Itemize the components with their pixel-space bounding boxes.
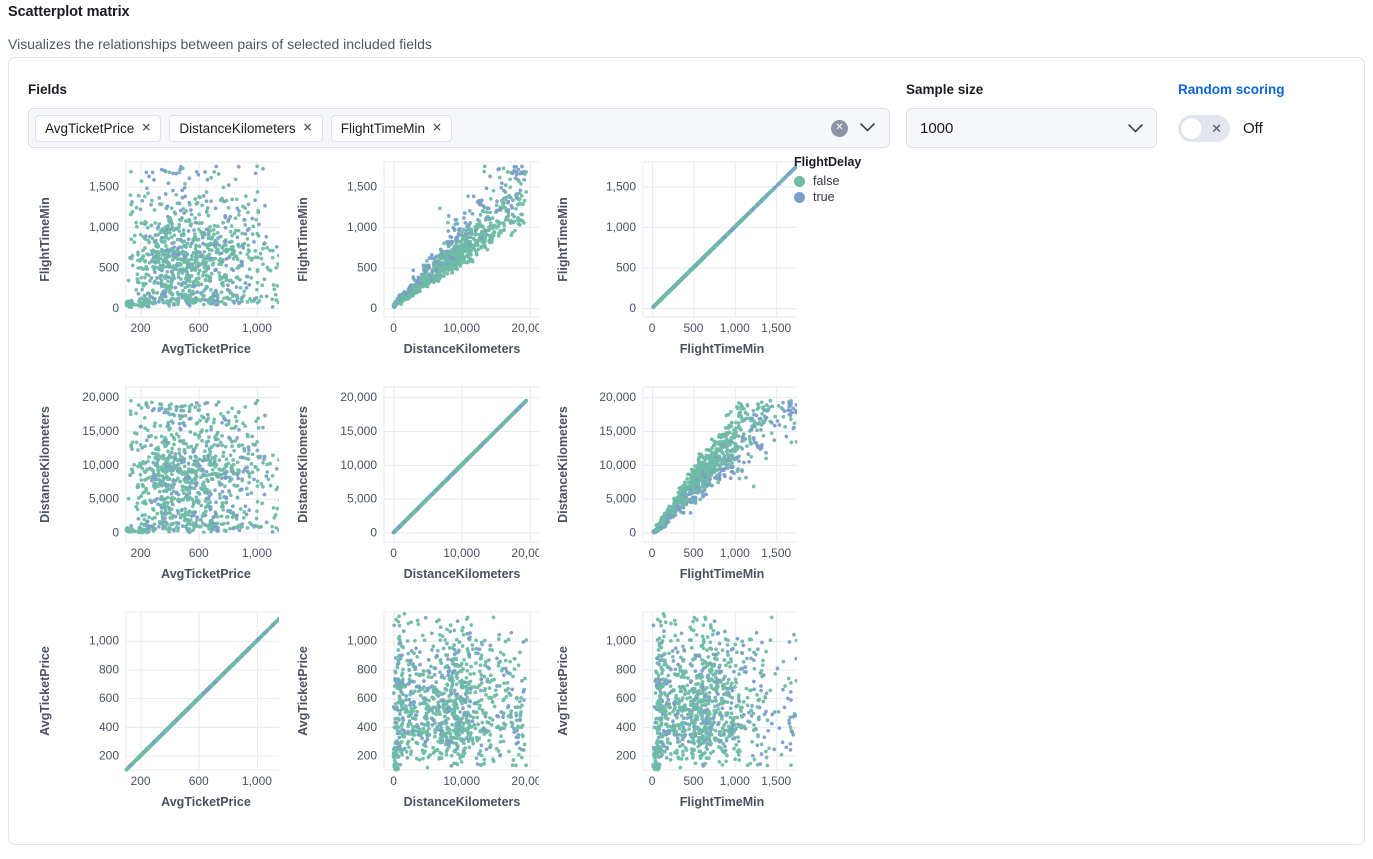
legend-item-true[interactable]: true: [794, 190, 861, 204]
svg-text:0: 0: [112, 526, 119, 540]
cross-icon: ✕: [1211, 122, 1222, 135]
legend-title: FlightDelay: [794, 155, 861, 169]
svg-text:200: 200: [131, 546, 151, 560]
svg-text:1,000: 1,000: [606, 220, 636, 234]
legend: FlightDelay false true: [794, 155, 861, 206]
close-icon[interactable]: ✕: [303, 122, 313, 134]
legend-item-label: true: [813, 190, 835, 204]
page-title: Scatterplot matrix: [8, 4, 130, 20]
scatter-panel-DistanceKilometers-vs-FlightTimeMin[interactable]: 05001,0001,50005,00010,00015,00020,000Fl…: [539, 375, 797, 600]
svg-text:20,000: 20,000: [82, 390, 119, 404]
field-pill-label: DistanceKilometers: [179, 121, 295, 136]
scatterplot-matrix-page: Scatterplot matrix Visualizes the relati…: [0, 0, 1373, 859]
svg-text:200: 200: [131, 321, 151, 335]
visualization-panel: Fields AvgTicketPrice ✕ DistanceKilomete…: [8, 57, 1365, 845]
scatterplot-matrix-grid: 2006001,00005001,0001,500AvgTicketPriceF…: [19, 150, 797, 832]
matrix-cell-r0c0[interactable]: 2006001,00005001,0001,500AvgTicketPriceF…: [19, 150, 279, 375]
svg-text:500: 500: [683, 321, 703, 335]
sample-size-label: Sample size: [906, 82, 983, 97]
matrix-cell-r1c0[interactable]: 2006001,00005,00010,00015,00020,000AvgTi…: [19, 375, 279, 600]
svg-text:0: 0: [649, 321, 656, 335]
svg-text:15,000: 15,000: [82, 424, 119, 438]
svg-text:5,000: 5,000: [89, 492, 119, 506]
random-scoring-toggle[interactable]: ✕: [1178, 115, 1230, 142]
svg-text:AvgTicketPrice: AvgTicketPrice: [161, 567, 251, 581]
chevron-down-icon[interactable]: [1128, 120, 1143, 137]
random-scoring-label[interactable]: Random scoring: [1178, 82, 1285, 97]
svg-text:10,000: 10,000: [82, 458, 119, 472]
scatter-panel-AvgTicketPrice-vs-DistanceKilometers[interactable]: 010,00020,0002004006008001,000DistanceKi…: [279, 600, 539, 832]
scatter-panel-FlightTimeMin-vs-AvgTicketPrice[interactable]: 2006001,00005001,0001,500AvgTicketPriceF…: [19, 150, 279, 375]
svg-text:FlightTimeMin: FlightTimeMin: [680, 342, 765, 356]
svg-text:1,500: 1,500: [606, 179, 636, 193]
scatter-panel-FlightTimeMin-vs-DistanceKilometers[interactable]: 010,00020,00005001,0001,500DistanceKilom…: [279, 150, 539, 375]
svg-text:500: 500: [99, 260, 119, 274]
clear-all-icon[interactable]: ✕: [831, 120, 848, 137]
svg-text:1,000: 1,000: [242, 321, 272, 335]
svg-text:20,000: 20,000: [511, 321, 539, 335]
scatter-panel-FlightTimeMin-vs-FlightTimeMin[interactable]: 05001,0001,50005001,0001,500FlightTimeMi…: [539, 150, 797, 375]
svg-text:500: 500: [616, 260, 636, 274]
svg-text:DistanceKilometers: DistanceKilometers: [38, 406, 52, 523]
legend-color-swatch: [794, 176, 805, 187]
random-scoring-control[interactable]: ✕ Off: [1178, 108, 1263, 148]
matrix-cell-r2c1[interactable]: 010,00020,0002004006008001,000DistanceKi…: [279, 600, 539, 832]
svg-text:10,000: 10,000: [443, 321, 480, 335]
close-icon[interactable]: ✕: [141, 122, 151, 134]
scatter-panel-DistanceKilometers-vs-DistanceKilometers[interactable]: 010,00020,00005,00010,00015,00020,000Dis…: [279, 375, 539, 600]
svg-text:1,000: 1,000: [242, 546, 272, 560]
legend-item-label: false: [813, 174, 839, 188]
field-pill-avgticketprice[interactable]: AvgTicketPrice ✕: [35, 115, 161, 142]
svg-text:1,000: 1,000: [347, 220, 377, 234]
matrix-row: 2006001,00005,00010,00015,00020,000AvgTi…: [19, 375, 797, 600]
fields-label: Fields: [28, 82, 67, 97]
matrix-row: 2006001,00005001,0001,500AvgTicketPriceF…: [19, 150, 797, 375]
scatter-panel-DistanceKilometers-vs-AvgTicketPrice[interactable]: 2006001,00005,00010,00015,00020,000AvgTi…: [19, 375, 279, 600]
legend-item-false[interactable]: false: [794, 174, 861, 188]
svg-text:600: 600: [189, 321, 209, 335]
page-subtitle: Visualizes the relationships between pai…: [8, 36, 432, 52]
svg-text:0: 0: [112, 301, 119, 315]
field-pill-flighttimemin[interactable]: FlightTimeMin ✕: [331, 115, 452, 142]
toggle-knob: [1180, 117, 1203, 140]
svg-text:600: 600: [189, 546, 209, 560]
svg-text:1,500: 1,500: [761, 321, 791, 335]
scatter-panel-AvgTicketPrice-vs-AvgTicketPrice[interactable]: 2006001,0002004006008001,000AvgTicketPri…: [19, 600, 279, 832]
svg-text:1,500: 1,500: [347, 179, 377, 193]
svg-text:0: 0: [370, 301, 377, 315]
svg-text:500: 500: [357, 260, 377, 274]
scatter-panel-AvgTicketPrice-vs-FlightTimeMin[interactable]: 05001,0001,5002004006008001,000FlightTim…: [539, 600, 797, 832]
legend-color-swatch: [794, 192, 805, 203]
controls-row: Fields AvgTicketPrice ✕ DistanceKilomete…: [9, 58, 1364, 150]
matrix-cell-r1c2[interactable]: 05001,0001,50005,00010,00015,00020,000Fl…: [539, 375, 797, 600]
random-scoring-state: Off: [1243, 120, 1263, 137]
matrix-cell-r2c2[interactable]: 05001,0001,5002004006008001,000FlightTim…: [539, 600, 797, 832]
svg-text:1,000: 1,000: [89, 220, 119, 234]
matrix-cell-r1c1[interactable]: 010,00020,00005,00010,00015,00020,000Dis…: [279, 375, 539, 600]
matrix-row: 2006001,0002004006008001,000AvgTicketPri…: [19, 600, 797, 832]
sample-size-value: 1000: [920, 120, 953, 137]
svg-text:1,500: 1,500: [89, 179, 119, 193]
svg-text:0: 0: [390, 321, 397, 335]
field-pill-label: AvgTicketPrice: [45, 121, 134, 136]
svg-text:AvgTicketPrice: AvgTicketPrice: [161, 342, 251, 356]
close-icon[interactable]: ✕: [432, 122, 442, 134]
chevron-down-icon[interactable]: [860, 119, 875, 137]
field-pill-label: FlightTimeMin: [341, 121, 425, 136]
svg-text:DistanceKilometers: DistanceKilometers: [404, 342, 521, 356]
field-pill-distancekilometers[interactable]: DistanceKilometers ✕: [169, 115, 322, 142]
svg-text:1,000: 1,000: [720, 321, 750, 335]
combobox-actions: ✕: [831, 119, 883, 137]
matrix-cell-r2c0[interactable]: 2006001,0002004006008001,000AvgTicketPri…: [19, 600, 279, 832]
svg-text:0: 0: [629, 301, 636, 315]
svg-text:FlightTimeMin: FlightTimeMin: [556, 197, 570, 282]
svg-text:FlightTimeMin: FlightTimeMin: [38, 197, 52, 282]
fields-combobox[interactable]: AvgTicketPrice ✕ DistanceKilometers ✕ Fl…: [28, 108, 890, 148]
matrix-cell-r0c1[interactable]: 010,00020,00005001,0001,500DistanceKilom…: [279, 150, 539, 375]
matrix-cell-r0c2[interactable]: 05001,0001,50005001,0001,500FlightTimeMi…: [539, 150, 797, 375]
sample-size-select[interactable]: 1000: [906, 108, 1157, 148]
svg-text:FlightTimeMin: FlightTimeMin: [296, 197, 310, 282]
